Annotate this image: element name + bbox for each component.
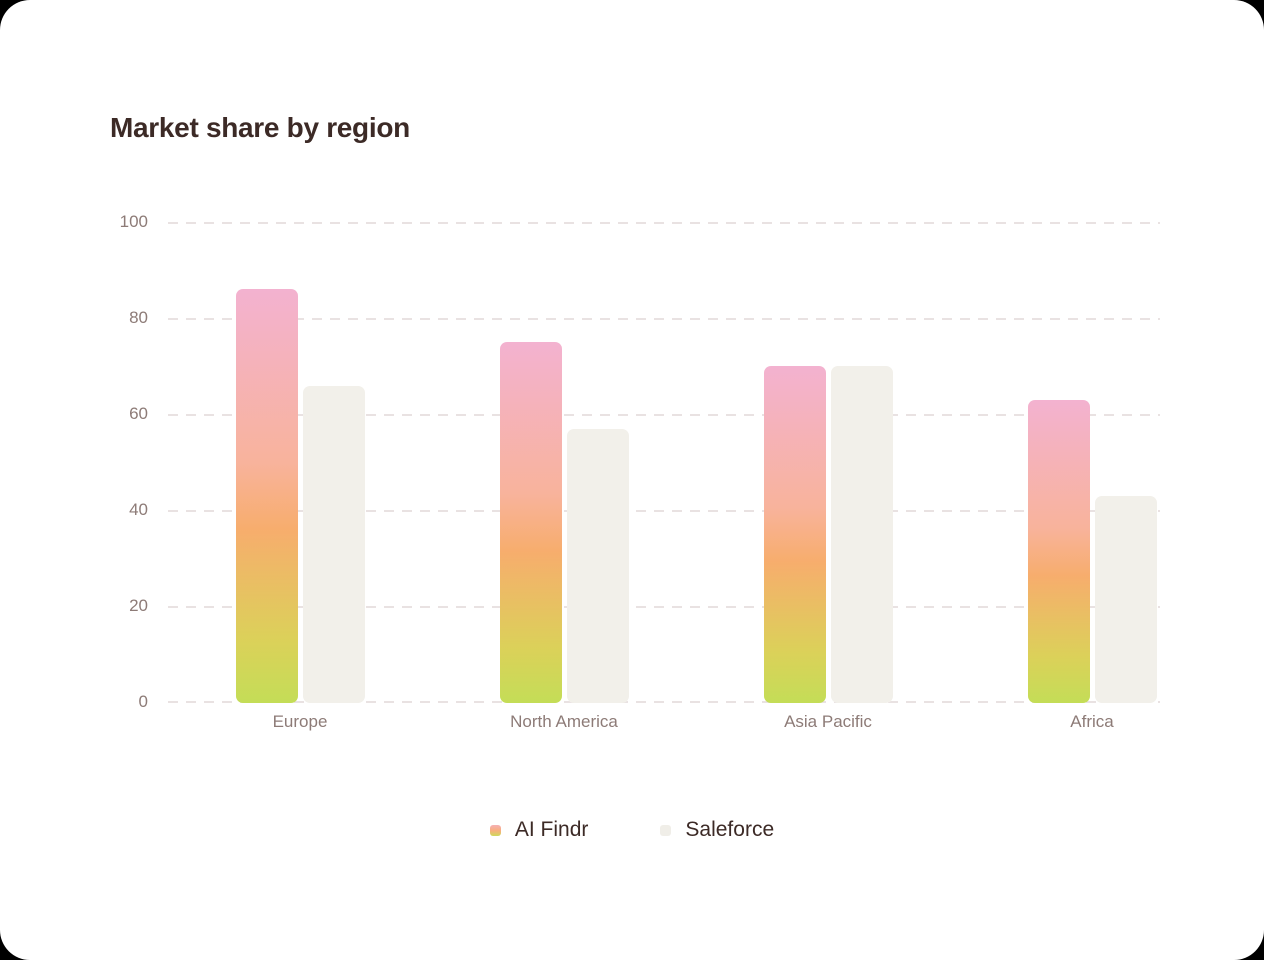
bar-ai-findr[interactable]: [500, 342, 562, 703]
bars: [432, 222, 696, 703]
y-tick-label: 100: [28, 212, 148, 232]
legend-item-saleforce[interactable]: Saleforce: [660, 818, 774, 842]
x-tick-label: North America: [432, 712, 696, 732]
bar-group-north-america: North America: [432, 222, 696, 703]
bar-saleforce[interactable]: [567, 429, 629, 703]
bar-group-europe: Europe: [168, 222, 432, 703]
y-tick-label: 20: [28, 596, 148, 616]
y-tick-label: 80: [28, 308, 148, 328]
x-tick-label: Europe: [168, 712, 432, 732]
bar-saleforce[interactable]: [303, 386, 365, 703]
x-tick-label: Africa: [960, 712, 1224, 732]
y-tick-label: 0: [28, 692, 148, 712]
legend-label: AI Findr: [515, 818, 589, 842]
legend-item-ai-findr[interactable]: AI Findr: [490, 818, 589, 842]
chart-title: Market share by region: [110, 112, 410, 144]
bar-group-asia-pacific: Asia Pacific: [696, 222, 960, 703]
bar-saleforce[interactable]: [831, 366, 893, 703]
legend-label: Saleforce: [685, 818, 774, 842]
bars: [696, 222, 960, 703]
bar-ai-findr[interactable]: [1028, 400, 1090, 703]
bar-ai-findr[interactable]: [236, 289, 298, 703]
bars: [960, 222, 1224, 703]
chart-legend: AI Findr Saleforce: [0, 818, 1264, 842]
legend-swatch-icon: [660, 825, 671, 836]
bar-ai-findr[interactable]: [764, 366, 826, 703]
x-tick-label: Asia Pacific: [696, 712, 960, 732]
y-tick-label: 40: [28, 500, 148, 520]
plot-area: Europe North America Asia Pacific Africa: [168, 222, 1160, 703]
bar-group-africa: Africa: [960, 222, 1224, 703]
legend-swatch-icon: [490, 825, 501, 836]
bar-saleforce[interactable]: [1095, 496, 1157, 703]
chart-card: Market share by region 100 80 60 40 20 0…: [0, 0, 1264, 960]
bars: [168, 222, 432, 703]
y-tick-label: 60: [28, 404, 148, 424]
